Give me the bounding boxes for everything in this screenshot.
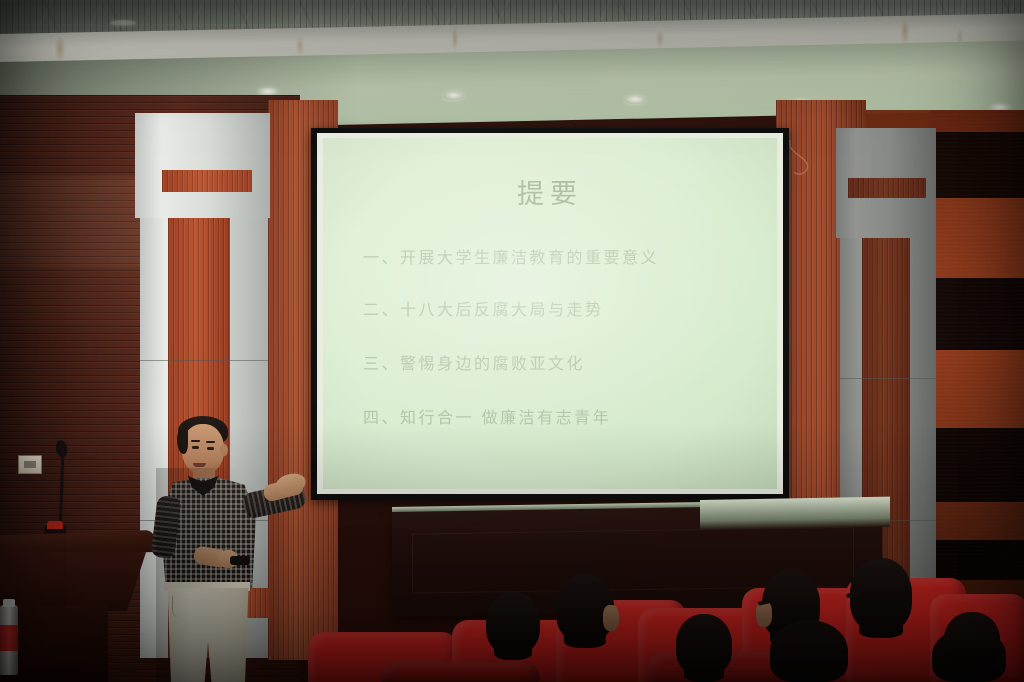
- left-pilaster-head: [135, 113, 270, 218]
- presenter-eye: [207, 447, 214, 450]
- audience-nape: [684, 666, 724, 682]
- audience-head: [556, 574, 614, 642]
- bottle-cap: [3, 599, 15, 607]
- ceiling-downlight-icon: [625, 96, 645, 104]
- audience-head: [486, 592, 540, 654]
- slide-line-4: 四、知行合一 做廉洁有志青年: [363, 404, 611, 428]
- podium-body: [0, 551, 146, 611]
- left-pilaster-inset-panel: [162, 170, 252, 192]
- presentation-remote: [230, 556, 250, 565]
- podium: [0, 533, 155, 682]
- audience-nape: [564, 632, 606, 648]
- slide-line-3: 三、警惕身边的腐败亚文化: [363, 350, 585, 374]
- presenter: [146, 408, 306, 682]
- presenter-brow: [206, 441, 215, 443]
- screen-surface: 提要 一、开展大学生廉洁教育的重要意义 二、十八大后反腐大局与走势 三、警惕身边…: [323, 138, 777, 489]
- presenter-brow: [191, 440, 200, 442]
- audience-head: [676, 614, 732, 676]
- presenter-hair-side: [177, 430, 188, 454]
- auditorium-seat: [380, 662, 540, 682]
- right-pilaster-inset-panel: [848, 178, 926, 198]
- presenter-eye: [192, 446, 199, 449]
- pilaster-seam: [140, 360, 268, 361]
- audience-long-hair: [770, 620, 848, 682]
- ceiling-downlight-icon: [444, 92, 464, 100]
- audience-head: [850, 558, 912, 632]
- projection-screen: 提要 一、开展大学生廉洁教育的重要意义 二、十八大后反腐大局与走势 三、警惕身边…: [311, 128, 789, 500]
- audience-nape: [494, 644, 533, 660]
- microphone-indicator: [47, 521, 63, 529]
- presenter-ear: [220, 444, 228, 456]
- presenter-pocket: [172, 596, 189, 618]
- bottle-label: [0, 625, 18, 651]
- hanging-cable-icon: [786, 140, 826, 188]
- audience-ear-skin: [603, 605, 619, 631]
- slide-line-1: 一、开展大学生廉洁教育的重要意义: [363, 244, 659, 268]
- presenter-mouth: [193, 463, 206, 467]
- slide-title: 提要: [323, 172, 777, 211]
- lecture-hall-photo: 提要 一、开展大学生廉洁教育的重要意义 二、十八大后反腐大局与走势 三、警惕身边…: [0, 0, 1024, 682]
- audience-head: [944, 612, 1000, 668]
- wall-power-outlet: [18, 455, 42, 474]
- ceiling-downlight-icon: [110, 20, 136, 26]
- pilaster-seam: [840, 378, 936, 379]
- water-bottle: [0, 605, 18, 675]
- slide-line-2: 二、十八大后反腐大局与走势: [363, 296, 604, 320]
- stage-table-right-edge: [700, 497, 890, 530]
- audience-nape: [859, 622, 904, 638]
